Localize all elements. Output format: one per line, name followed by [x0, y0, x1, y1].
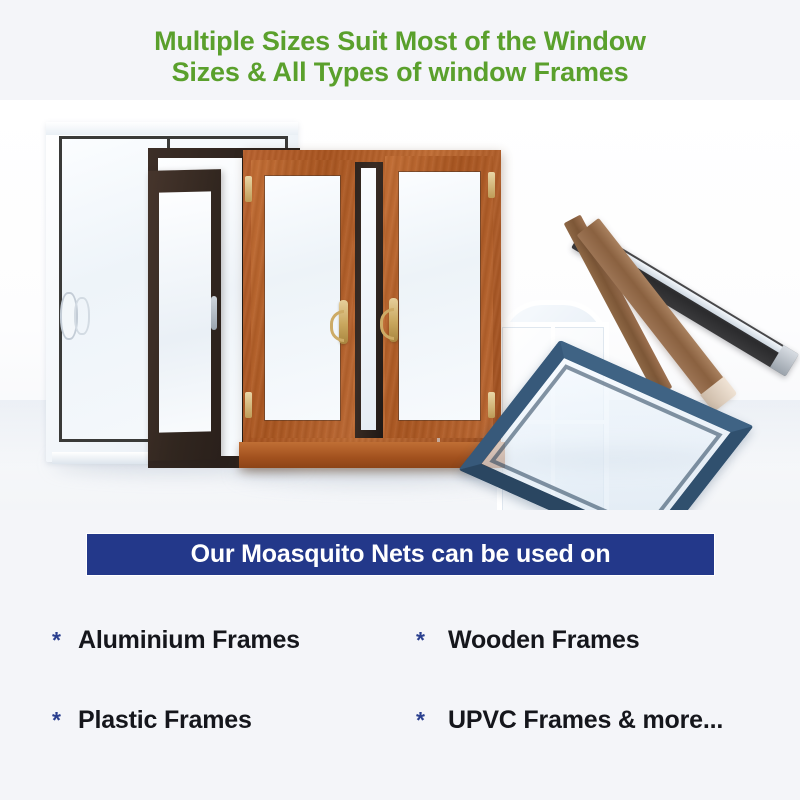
wood-sash-right	[385, 156, 493, 438]
wood-handle-left	[339, 300, 348, 344]
wood-hinge-bottom-left	[245, 392, 252, 418]
wood-sash-right-glass	[399, 172, 480, 420]
blue-tilted-frame-inner	[489, 364, 722, 510]
asterisk-icon: *	[30, 709, 78, 732]
dark-casement-handle-left	[211, 296, 217, 330]
wood-mullion	[355, 162, 383, 438]
wood-sash-left-glass	[265, 176, 340, 420]
wood-mullion-glass-strip	[361, 168, 376, 430]
list-item-label: UPVC Frames & more...	[448, 706, 723, 735]
asterisk-icon: *	[400, 709, 448, 732]
asterisk-icon: *	[400, 629, 448, 652]
list-item: * Plastic Frames	[30, 680, 400, 760]
list-item-label: Aluminium Frames	[78, 626, 300, 655]
dark-casement-leaf-glass	[159, 191, 211, 432]
wood-hinge-top-right	[488, 172, 495, 198]
list-item: * Wooden Frames	[400, 600, 800, 680]
asterisk-icon: *	[30, 629, 78, 652]
wood-handle-right	[389, 298, 398, 342]
wood-sash-left	[251, 160, 353, 438]
usage-banner: Our Moasquito Nets can be used on	[86, 533, 715, 576]
wooden-double-casement-window	[243, 150, 501, 468]
usage-banner-label: Our Moasquito Nets can be used on	[191, 540, 611, 569]
wood-hinge-top-left	[245, 176, 252, 202]
sliding-window-handle-secondary	[74, 297, 90, 335]
frame-types-list: * Aluminium Frames * Wooden Frames * Pla…	[0, 600, 800, 760]
list-item-label: Wooden Frames	[448, 626, 639, 655]
product-image	[0, 100, 800, 510]
page-title-line-2: Sizes & All Types of window Frames	[0, 57, 800, 88]
wood-hinge-bottom-right	[488, 392, 495, 418]
page-title-line-1: Multiple Sizes Suit Most of the Window	[0, 26, 800, 57]
list-item-label: Plastic Frames	[78, 706, 252, 735]
page-title: Multiple Sizes Suit Most of the Window S…	[0, 26, 800, 88]
list-item: * UPVC Frames & more...	[400, 680, 800, 760]
sliding-window-head-rail	[46, 122, 298, 135]
list-item: * Aluminium Frames	[30, 600, 400, 680]
